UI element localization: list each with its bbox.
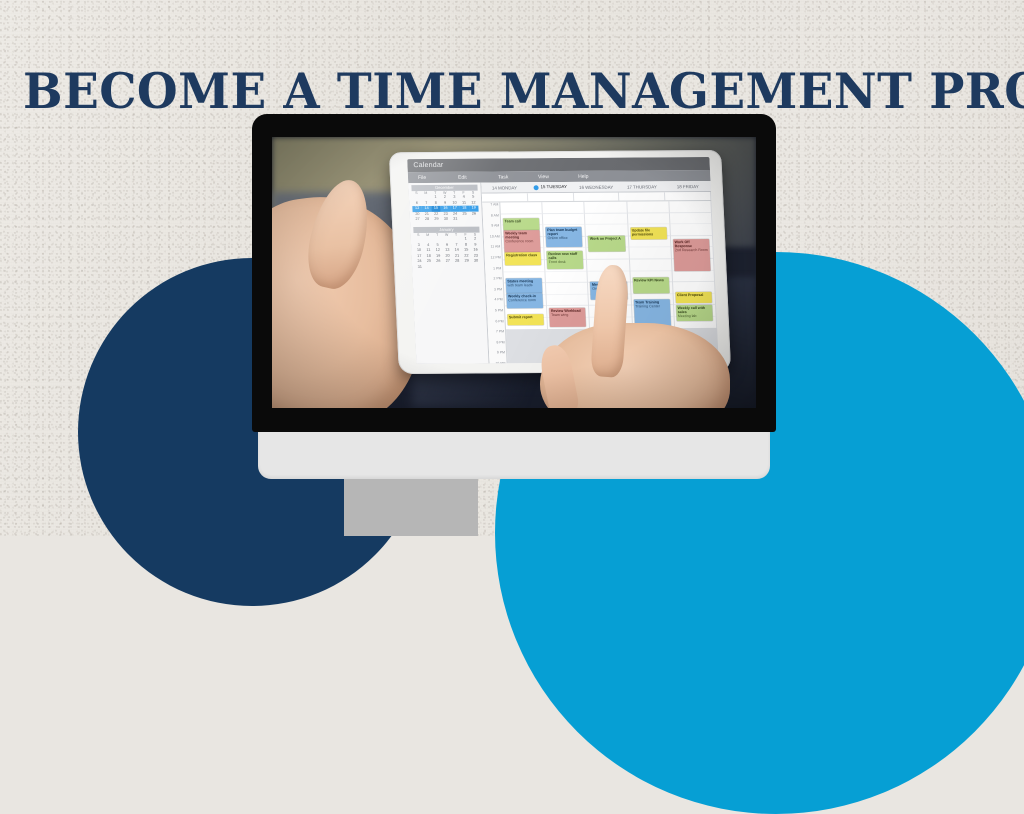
calendar-event[interactable]: Weekly check-inConference room <box>506 293 543 308</box>
calendar-event[interactable]: Work on Project A <box>588 236 625 252</box>
allday-cell[interactable] <box>528 193 574 201</box>
time-label: 5 PM <box>487 308 504 319</box>
allday-cell[interactable] <box>573 193 619 201</box>
calendar-hour-slot[interactable] <box>629 248 671 260</box>
calendar-event[interactable]: Client Proposal <box>675 292 712 303</box>
calendar-hour-slot[interactable] <box>585 202 627 214</box>
time-label: 3 PM <box>486 287 503 298</box>
time-label: 11 AM <box>484 245 501 256</box>
calendar-sidebar: December SMTWTFS 12345678910111213141516… <box>408 183 489 364</box>
mini-day-cell[interactable]: 31 <box>451 217 461 223</box>
calendar-event[interactable]: Review WorkloadTeam wing <box>549 308 586 327</box>
calendar-event[interactable]: Submit report <box>507 314 544 325</box>
calendar-event-title: Team call <box>505 219 538 223</box>
mini-day-cell[interactable] <box>462 265 472 271</box>
mini-day-cell[interactable] <box>424 265 434 271</box>
mini-month-january[interactable]: January SMTWTFS 123456789101112131415161… <box>413 227 481 271</box>
time-label: 8 AM <box>483 213 500 224</box>
calendar-event[interactable]: Weekly call with salesMeeting lab <box>676 305 713 321</box>
calendar-event-subtitle: Team wing <box>551 313 584 317</box>
mini-month-december[interactable]: December SMTWTFS 12345678910111213141516… <box>411 185 479 223</box>
mini-day-cell[interactable] <box>469 217 479 223</box>
calendar-event-subtitle: Front desk <box>549 260 582 264</box>
desktop-monitor: Calendar File Edit Task View Help Decemb… <box>252 114 776 479</box>
calendar-event-title: Work Off Response <box>674 240 708 249</box>
calendar-event-title: Client Proposal <box>677 293 710 297</box>
menu-item-edit[interactable]: Edit <box>458 174 488 180</box>
calendar-hour-slot[interactable] <box>627 201 669 213</box>
calendar-event-subtitle: Training Center <box>635 304 668 308</box>
allday-cell[interactable] <box>619 192 665 200</box>
calendar-day-label: 14 MONDAY <box>492 185 517 190</box>
calendar-hour-slot[interactable] <box>670 213 712 225</box>
calendar-hour-slot[interactable] <box>670 224 712 236</box>
calendar-hour-slot[interactable] <box>506 330 548 342</box>
calendar-day-header[interactable]: 17 THURSDAY <box>619 184 665 189</box>
calendar-event-title: Update file permissions <box>632 228 666 237</box>
calendar-event-subtitle: Conference room <box>508 298 541 302</box>
calendar-event-subtitle: with team leads <box>507 283 540 287</box>
time-label: 1 PM <box>485 266 502 277</box>
time-label: 8 PM <box>488 340 505 351</box>
calendar-hour-slot[interactable] <box>585 213 627 225</box>
monitor-screen-photo: Calendar File Edit Task View Help Decemb… <box>272 137 756 408</box>
mini-day-cell[interactable]: 30 <box>441 217 451 223</box>
calendar-event-title: Review new staff calls <box>548 252 582 261</box>
time-label: 9 PM <box>489 351 506 362</box>
calendar-event-title: Submit report <box>509 315 542 319</box>
mini-day-cell[interactable] <box>443 265 453 271</box>
menu-item-file[interactable]: File <box>418 174 448 180</box>
menu-item-task[interactable]: Task <box>498 174 528 180</box>
calendar-event[interactable]: Weekly team meetingConference room <box>504 230 541 252</box>
calendar-hour-slot[interactable] <box>542 202 584 214</box>
calendar-hour-slot[interactable] <box>672 270 714 282</box>
calendar-hour-slot[interactable] <box>627 213 669 225</box>
calendar-hour-slot[interactable] <box>547 295 589 307</box>
allday-cell[interactable] <box>482 193 528 201</box>
calendar-event-subtitle: Online office <box>548 236 581 240</box>
page-title: BECOME A TIME MANAGEMENT PRO <box>23 67 1001 116</box>
calendar-event[interactable]: Review new staff callsFront desk <box>547 251 584 269</box>
calendar-event-title: Review KPI News <box>634 278 667 282</box>
calendar-hour-slot[interactable] <box>500 202 542 214</box>
time-label: 4 PM <box>487 298 504 309</box>
calendar-event-subtitle: Conference room <box>505 240 538 244</box>
calendar-day-label: 18 FRIDAY <box>677 184 699 189</box>
calendar-hour-slot[interactable] <box>543 213 585 225</box>
monitor-bezel: Calendar File Edit Task View Help Decemb… <box>252 114 776 432</box>
time-label: 9 AM <box>483 224 500 235</box>
calendar-day-header[interactable]: 15 TUESDAY <box>527 184 573 190</box>
menu-item-view[interactable]: View <box>538 174 568 180</box>
calendar-hour-slot[interactable] <box>669 201 711 213</box>
mini-day-cell[interactable]: 27 <box>413 217 423 223</box>
calendar-day-label: 16 WEDNESDAY <box>579 184 613 189</box>
calendar-event-title: Plan team budget report <box>547 228 581 237</box>
calendar-hour-slot[interactable] <box>507 341 549 353</box>
calendar-event-title: Work on Project A <box>590 237 623 241</box>
calendar-event[interactable]: Review KPI News <box>632 277 669 293</box>
mini-day-cell[interactable]: 29 <box>432 217 442 223</box>
time-label: 6 PM <box>488 319 505 330</box>
calendar-event-subtitle: Meeting lab <box>678 314 711 318</box>
calendar-hour-slot[interactable] <box>546 271 588 283</box>
calendar-event[interactable]: Status meetingwith team leads <box>506 278 543 293</box>
monitor-chin <box>258 432 770 479</box>
mini-day-cell[interactable]: 28 <box>422 217 432 223</box>
monitor-stand <box>344 478 478 536</box>
time-label: 2 PM <box>486 277 503 288</box>
mini-day-cell[interactable]: 31 <box>415 265 425 271</box>
mini-month-grid[interactable]: 1234567891011121314151617181920212223242… <box>412 195 479 223</box>
calendar-day-column[interactable]: Team callWeekly team meetingConference r… <box>500 202 550 363</box>
calendar-hour-slot[interactable] <box>546 283 588 295</box>
calendar-event[interactable]: Work Off Response2nd Research Room <box>673 239 711 271</box>
mini-day-cell[interactable] <box>434 265 444 271</box>
calendar-event-title: Registration class <box>506 253 539 257</box>
calendar-event-title: Weekly call with sales <box>677 306 711 315</box>
calendar-day-header[interactable]: 18 FRIDAY <box>665 184 711 189</box>
calendar-event[interactable]: Team call <box>503 218 540 230</box>
mini-day-cell[interactable] <box>460 217 470 223</box>
mini-month-grid[interactable]: 1234567891011121314151617181920212223242… <box>414 237 482 271</box>
calendar-day-header[interactable]: 16 WEDNESDAY <box>573 184 619 189</box>
time-label: 7 AM <box>482 202 499 213</box>
calendar-event-title: Weekly team meeting <box>505 231 539 240</box>
menu-item-help[interactable]: Help <box>578 173 608 179</box>
calendar-day-header[interactable]: 14 MONDAY <box>481 185 527 190</box>
calendar-event[interactable]: Registration class <box>505 252 542 265</box>
calendar-hour-slot[interactable] <box>630 259 672 271</box>
allday-cell[interactable] <box>665 192 711 200</box>
calendar-day-label: 17 THURSDAY <box>627 184 657 189</box>
today-dot-icon <box>533 185 538 190</box>
mini-day-cell[interactable] <box>453 265 463 271</box>
calendar-event[interactable]: Plan team budget reportOnline office <box>546 227 583 247</box>
time-label: 10 PM <box>489 361 506 363</box>
calendar-event-subtitle: 2nd Research Room <box>675 248 708 252</box>
time-label: 12 PM <box>485 255 502 266</box>
time-label: 10 AM <box>484 234 501 245</box>
calendar-app-title: Calendar <box>413 162 443 169</box>
mini-day-cell[interactable] <box>472 264 482 270</box>
time-label: 7 PM <box>488 329 505 340</box>
calendar-day-label: 15 TUESDAY <box>540 184 567 189</box>
calendar-event[interactable]: Update file permissions <box>630 227 667 239</box>
